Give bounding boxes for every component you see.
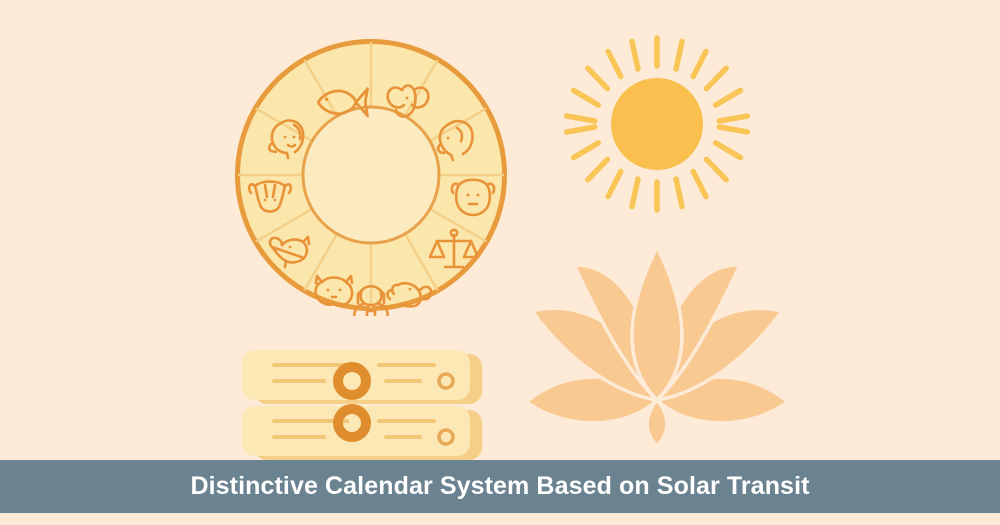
poster-canvas: Distinctive Calendar System Based on Sol… — [0, 0, 1000, 525]
lotus-flower-icon — [512, 243, 802, 449]
calendar-card-stack-icon — [238, 348, 488, 466]
zodiac-wheel — [230, 34, 512, 316]
page-title: Distinctive Calendar System Based on Sol… — [190, 474, 809, 499]
sun-icon — [557, 24, 757, 224]
footer-strip — [0, 513, 1000, 525]
title-banner: Distinctive Calendar System Based on Sol… — [0, 460, 1000, 513]
